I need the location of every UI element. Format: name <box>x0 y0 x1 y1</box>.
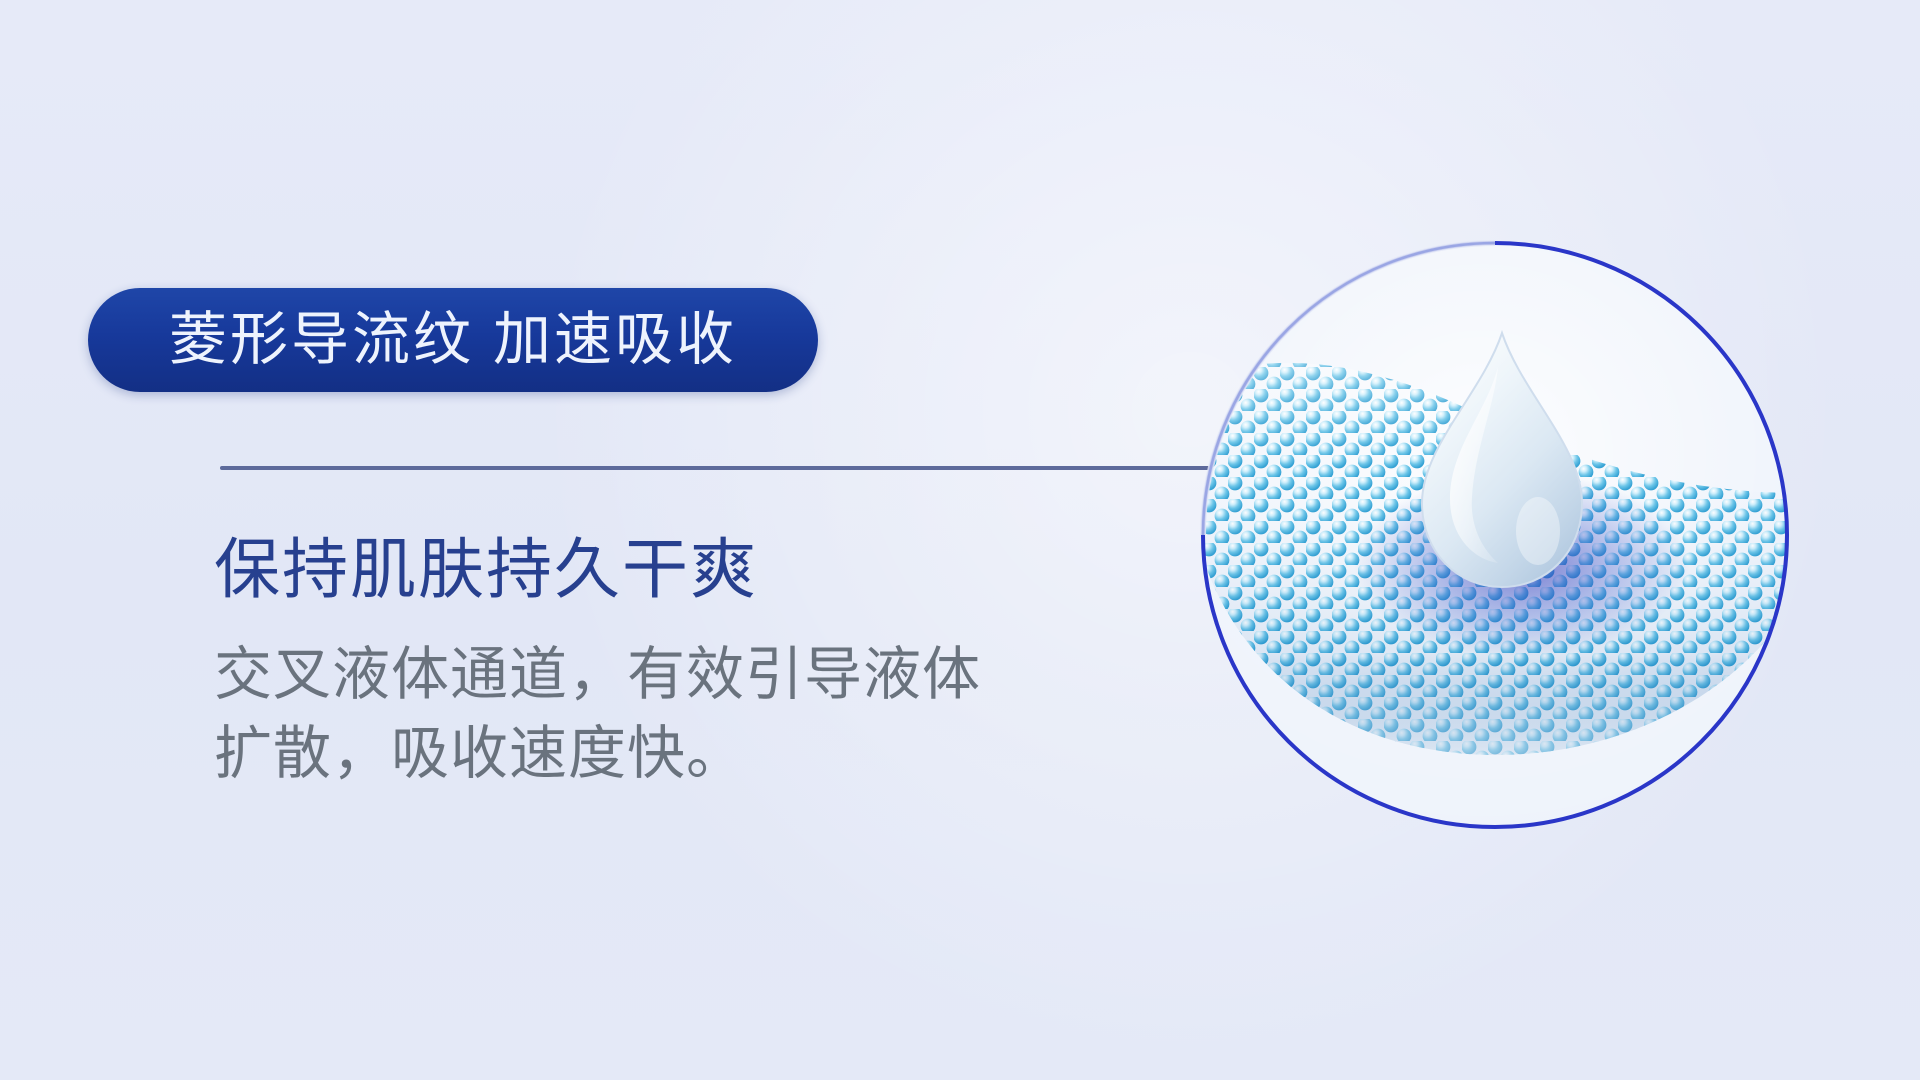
product-illustration <box>1150 235 1840 875</box>
feature-heading: 保持肌肤持久干爽 <box>214 535 758 604</box>
feature-body-line-2: 扩散，吸收速度快。 <box>214 715 1044 794</box>
headline-pill: 菱形导流纹 加速吸收 <box>88 288 818 392</box>
headline-pill-label: 菱形导流纹 加速吸收 <box>169 311 737 369</box>
feature-body-line-1: 交叉液体通道，有效引导液体 <box>214 636 1044 715</box>
feature-body: 交叉液体通道，有效引导液体 扩散，吸收速度快。 <box>214 636 1044 794</box>
promo-banner: 菱形导流纹 加速吸收 保持肌肤持久干爽 交叉液体通道，有效引导液体 扩散，吸收速… <box>0 0 1920 1080</box>
